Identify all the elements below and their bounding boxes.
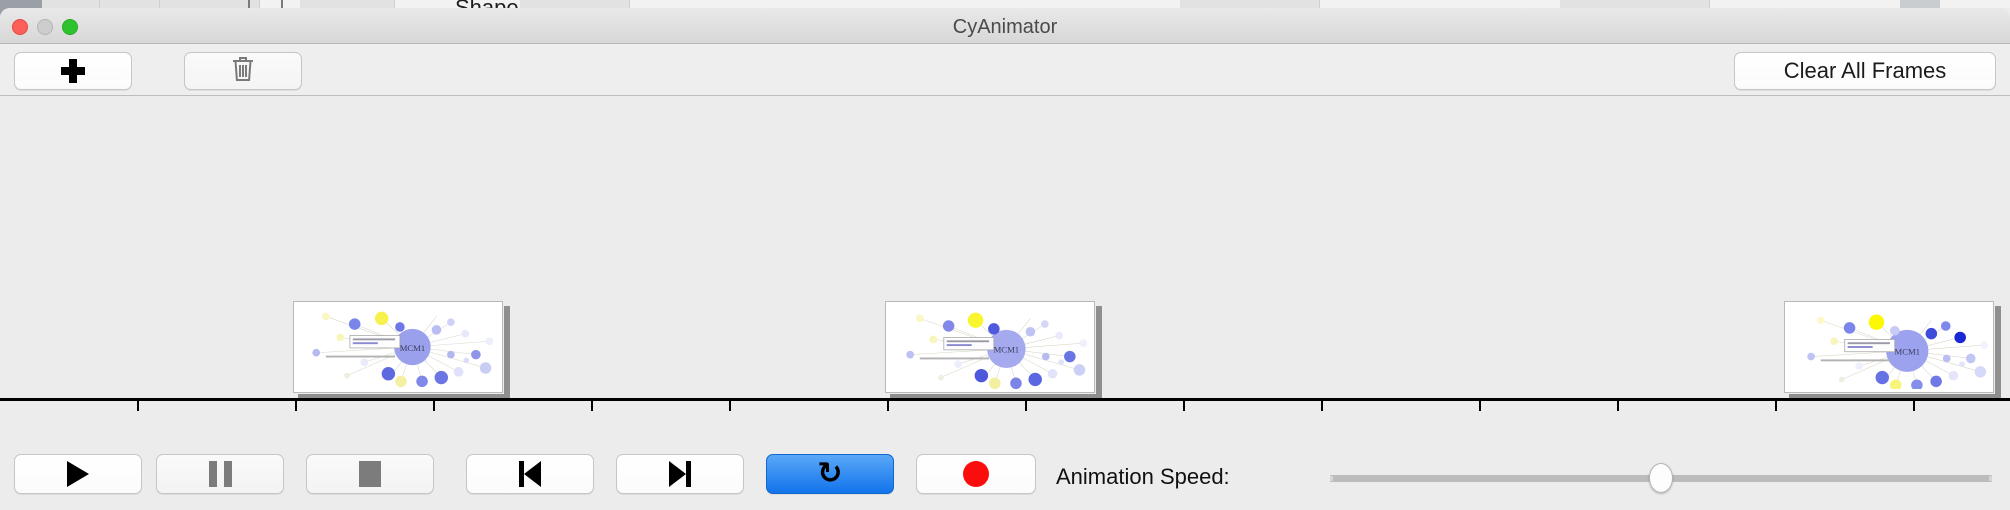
- svg-text:MCM1: MCM1: [994, 345, 1019, 355]
- timeline-frame-2[interactable]: MCM1: [885, 301, 1095, 393]
- network-thumbnail: MCM1: [889, 305, 1091, 389]
- playback-control-bar: ↻ Animation Speed:: [0, 438, 2010, 510]
- play-icon: [67, 461, 89, 487]
- ruler-major-tick: [1775, 401, 1777, 411]
- cyanimator-window: CyAnimator Clear All Frames: [0, 8, 2010, 510]
- ruler-minor-tick: [1617, 401, 1619, 411]
- slider-thumb[interactable]: [1649, 463, 1673, 493]
- timeline-ruler[interactable]: 2 13 14 15 16 17 18: [0, 398, 2010, 411]
- record-icon: [963, 461, 989, 487]
- window-titlebar[interactable]: CyAnimator: [0, 8, 2010, 44]
- ruler-major-tick: [887, 401, 889, 411]
- stop-button[interactable]: [306, 454, 434, 494]
- skip-next-button[interactable]: [616, 454, 744, 494]
- timeline-panel[interactable]: MCM1: [0, 96, 2010, 411]
- clear-all-frames-label: Clear All Frames: [1784, 58, 1947, 84]
- pause-icon: [209, 461, 232, 487]
- slider-track-cap: [1330, 476, 1333, 481]
- ruler-major-tick: [1479, 401, 1481, 411]
- ruler-major-tick: [1183, 401, 1185, 411]
- ruler-minor-tick: [729, 401, 731, 411]
- window-title: CyAnimator: [0, 16, 2010, 39]
- timeline-frame-1[interactable]: MCM1: [293, 301, 503, 393]
- frame-toolbar: Clear All Frames: [0, 44, 2010, 96]
- ruler-minor-tick: [1025, 401, 1027, 411]
- record-button[interactable]: [916, 454, 1036, 494]
- animation-speed-slider[interactable]: [1330, 463, 1992, 493]
- skip-previous-icon: [517, 461, 543, 487]
- svg-text:MCM1: MCM1: [400, 343, 425, 353]
- ruler-minor-tick: [1321, 401, 1323, 411]
- add-frame-button[interactable]: [14, 52, 132, 90]
- ruler-baseline: [0, 398, 2010, 401]
- clear-all-frames-button[interactable]: Clear All Frames: [1734, 52, 1996, 90]
- play-button[interactable]: [14, 454, 142, 494]
- ruler-minor-tick: [137, 401, 139, 411]
- ruler-minor-tick: [1913, 401, 1915, 411]
- skip-previous-button[interactable]: [466, 454, 594, 494]
- loop-button[interactable]: ↻: [766, 454, 894, 494]
- pause-button[interactable]: [156, 454, 284, 494]
- plus-icon: [60, 58, 86, 84]
- slider-track-cap: [1989, 476, 1992, 481]
- svg-text:MCM1: MCM1: [1895, 347, 1920, 357]
- ruler-minor-tick: [433, 401, 435, 411]
- loop-icon: ↻: [817, 459, 842, 489]
- network-thumbnail: MCM1: [297, 305, 499, 389]
- delete-frame-button[interactable]: [184, 52, 302, 90]
- network-thumbnail: MCM1: [1788, 305, 1990, 389]
- stop-icon: [359, 461, 381, 487]
- timeline-frame-3[interactable]: MCM1: [1784, 301, 1994, 393]
- animation-speed-label: Animation Speed:: [1056, 464, 1230, 490]
- ruler-major-tick: [591, 401, 593, 411]
- trash-icon: [230, 54, 256, 89]
- ruler-major-tick: [295, 401, 297, 411]
- skip-next-icon: [667, 461, 693, 487]
